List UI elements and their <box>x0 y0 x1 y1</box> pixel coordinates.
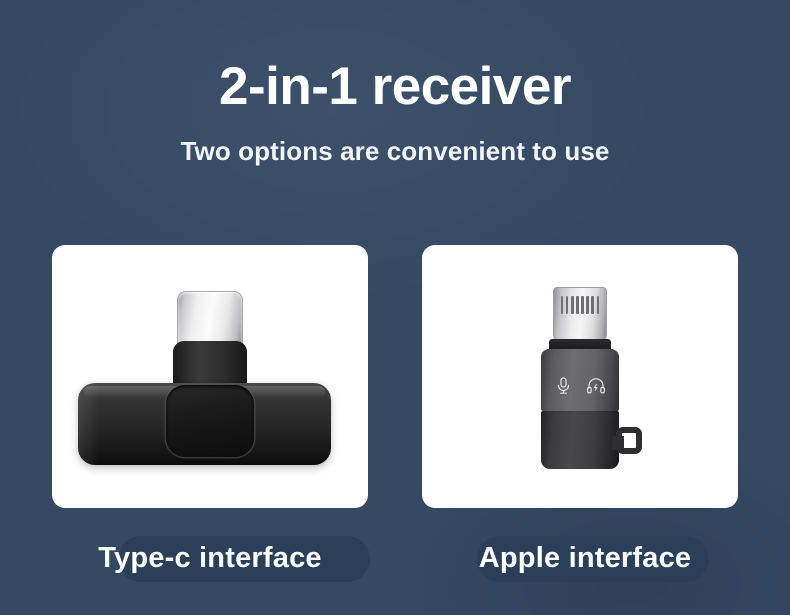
port-icon-group <box>532 376 628 395</box>
lightning-pins <box>561 296 599 314</box>
apple-adapter-image <box>422 245 738 508</box>
type-c-adapter-image <box>52 245 368 508</box>
product-cards-row <box>52 245 738 508</box>
product-card-apple[interactable] <box>422 245 738 508</box>
header: 2-in-1 receiver Two options are convenie… <box>0 0 790 167</box>
usb-c-plug-icon <box>177 291 243 346</box>
headphone-charge-icon <box>586 376 606 395</box>
adapter-port-inset <box>166 385 254 457</box>
caption-label-apple: Apple interface <box>479 542 692 575</box>
adapter-lower-housing <box>541 411 619 469</box>
lanyard-loop-icon <box>616 427 642 454</box>
microphone-icon <box>555 376 572 395</box>
captions-row: Type-c interface Apple interface <box>0 528 790 598</box>
product-card-type-c[interactable] <box>52 245 368 508</box>
page-subtitle: Two options are convenient to use <box>0 136 790 167</box>
caption-apple: Apple interface <box>415 528 755 588</box>
caption-type-c: Type-c interface <box>40 528 380 588</box>
caption-label-type-c: Type-c interface <box>98 542 321 575</box>
page-title: 2-in-1 receiver <box>0 58 790 115</box>
apple-adapter-group <box>532 287 628 469</box>
